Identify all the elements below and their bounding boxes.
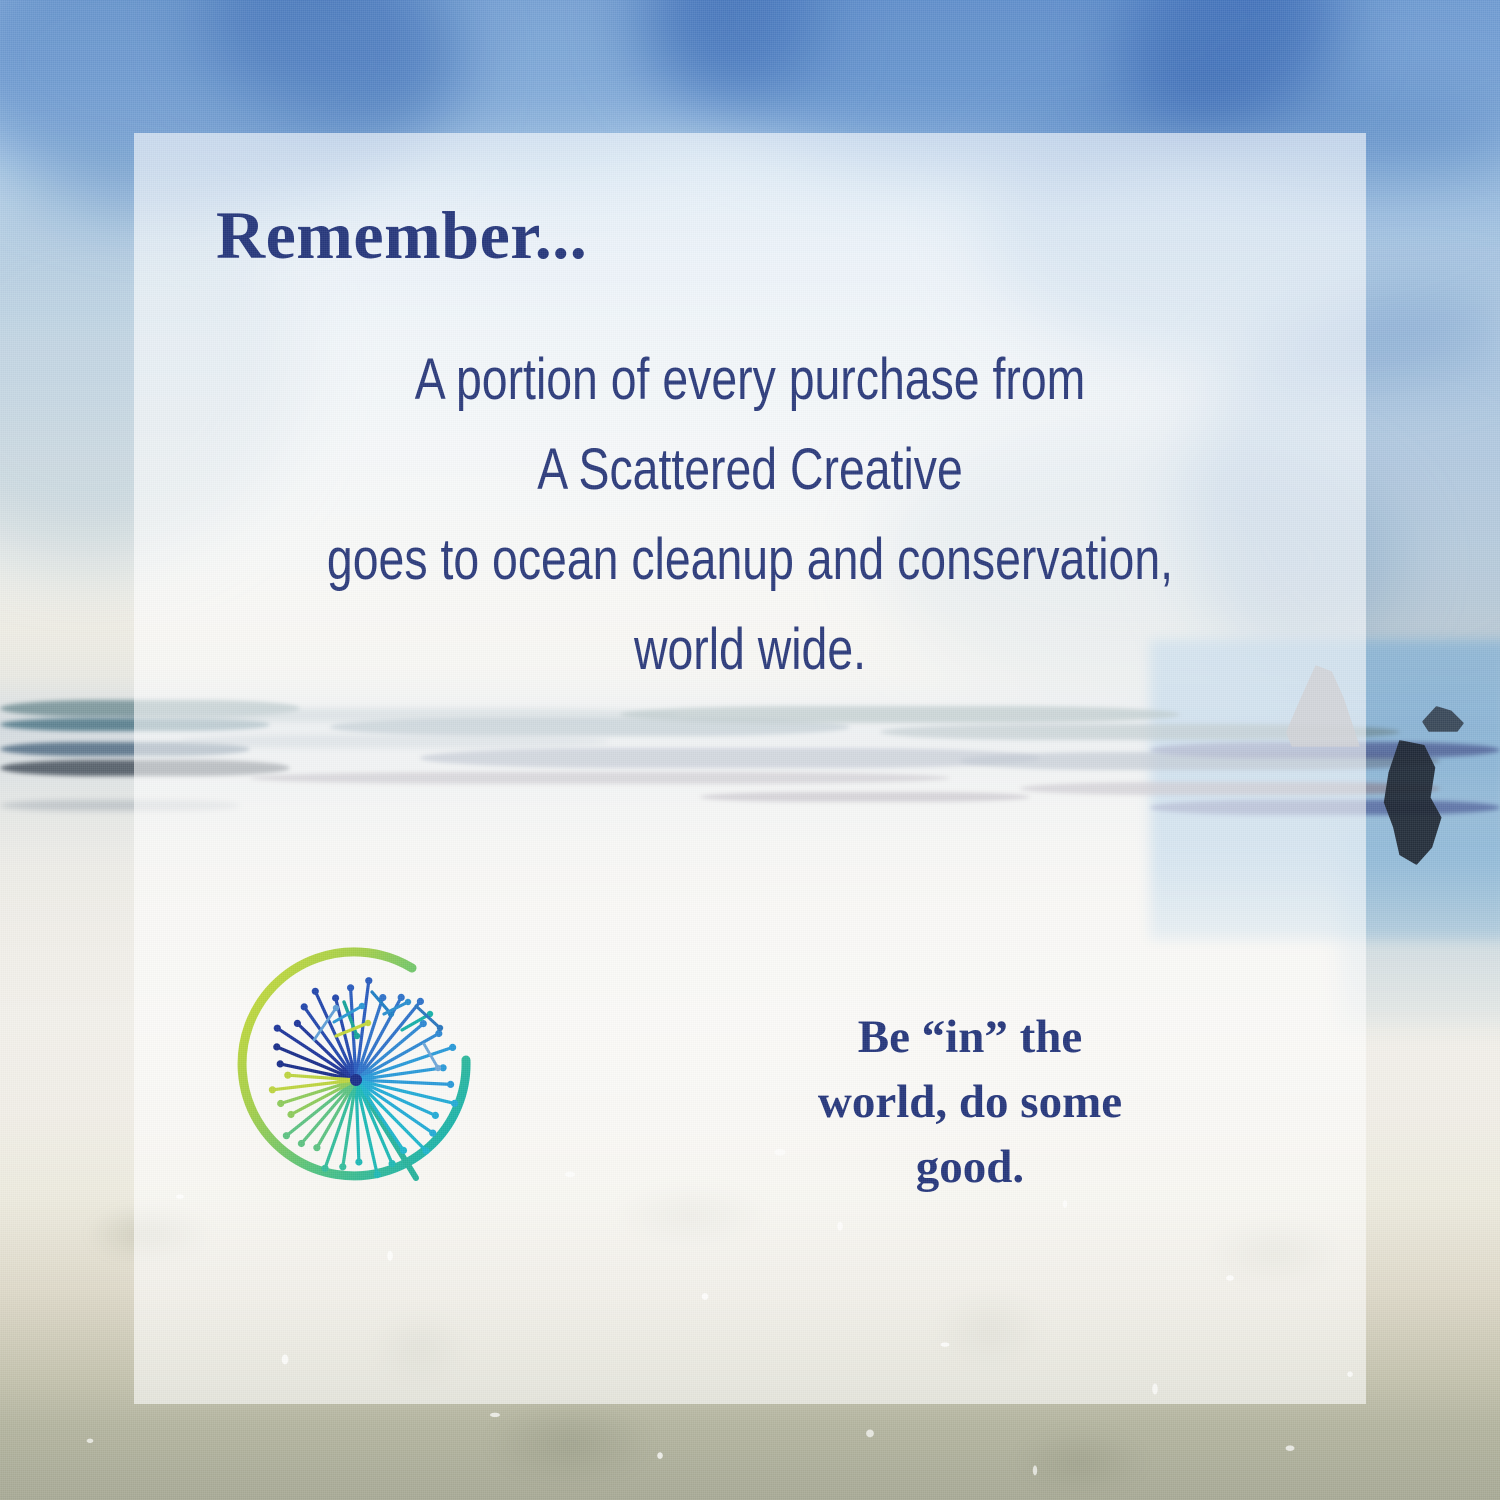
logo-ray-tip — [273, 1043, 280, 1050]
logo-ray-tip — [301, 1003, 308, 1010]
brand-logo — [216, 940, 492, 1216]
logo-ray-tip — [435, 1030, 442, 1037]
logo-ray-tip — [274, 1025, 281, 1032]
small-islet — [1422, 706, 1464, 732]
logo-ray-tip — [365, 977, 372, 984]
logo-floating-seed-tip — [437, 1025, 443, 1031]
logo-ray-tip — [294, 1020, 301, 1027]
logo-ray-tip — [423, 1147, 430, 1154]
logo-ray-tip — [374, 1171, 381, 1178]
logo-ray-tip — [283, 1132, 290, 1139]
mission-line: goes to ocean cleanup and conservation, — [257, 515, 1243, 605]
logo-ray-tip — [339, 1163, 346, 1170]
poster-canvas: Remember... A portion of every purchase … — [0, 0, 1500, 1500]
tagline-line: good. — [748, 1135, 1192, 1200]
logo-ray-tip — [321, 1165, 328, 1172]
brand-tagline: Be “in” the world, do some good. — [748, 1005, 1192, 1200]
logo-floating-seed-tip — [333, 1005, 339, 1011]
logo-ray-tip — [287, 1111, 294, 1118]
mission-line: A Scattered Creative — [257, 425, 1243, 515]
logo-floating-seed-tip — [365, 1020, 371, 1026]
logo-ray-tip — [447, 1081, 454, 1088]
logo-ray-tip — [355, 1158, 362, 1165]
logo-ray-tip — [432, 1112, 439, 1119]
page-title: Remember... — [216, 196, 587, 275]
logo-ray-tip — [277, 1100, 284, 1107]
logo-ray-tip — [398, 994, 405, 1001]
logo-floating-seed-tip — [359, 1003, 365, 1009]
logo-hub — [350, 1074, 362, 1086]
logo-floating-seed-tip — [435, 1065, 441, 1071]
logo-ray-tip — [451, 1100, 458, 1107]
logo-ray-tip — [269, 1086, 276, 1093]
tagline-line: world, do some — [748, 1070, 1192, 1135]
mission-line: A portion of every purchase from — [257, 335, 1243, 425]
logo-ray-tip — [417, 998, 424, 1005]
logo-ray-tip — [449, 1044, 456, 1051]
logo-ray-tip — [400, 1147, 407, 1154]
logo-floating-seed-tip — [354, 1033, 360, 1039]
logo-floating-seed-tip — [405, 999, 411, 1005]
logo-ray-tip — [332, 994, 339, 1001]
logo-ray-tip — [277, 1060, 284, 1067]
logo-ray-tip — [389, 1160, 396, 1167]
logo-ray-tip — [298, 1140, 305, 1147]
dark-sea-stack — [1376, 740, 1454, 865]
logo-ray-tip — [312, 988, 319, 995]
logo-ray-tip — [313, 1144, 320, 1151]
dandelion-icon — [216, 940, 492, 1216]
logo-ray-tip — [429, 1130, 436, 1137]
logo-ray-tip — [347, 984, 354, 991]
mission-statement: A portion of every purchase from A Scatt… — [257, 335, 1243, 695]
tagline-line: Be “in” the — [748, 1005, 1192, 1070]
mission-line: world wide. — [257, 605, 1243, 695]
logo-ray-tip — [284, 1072, 291, 1079]
